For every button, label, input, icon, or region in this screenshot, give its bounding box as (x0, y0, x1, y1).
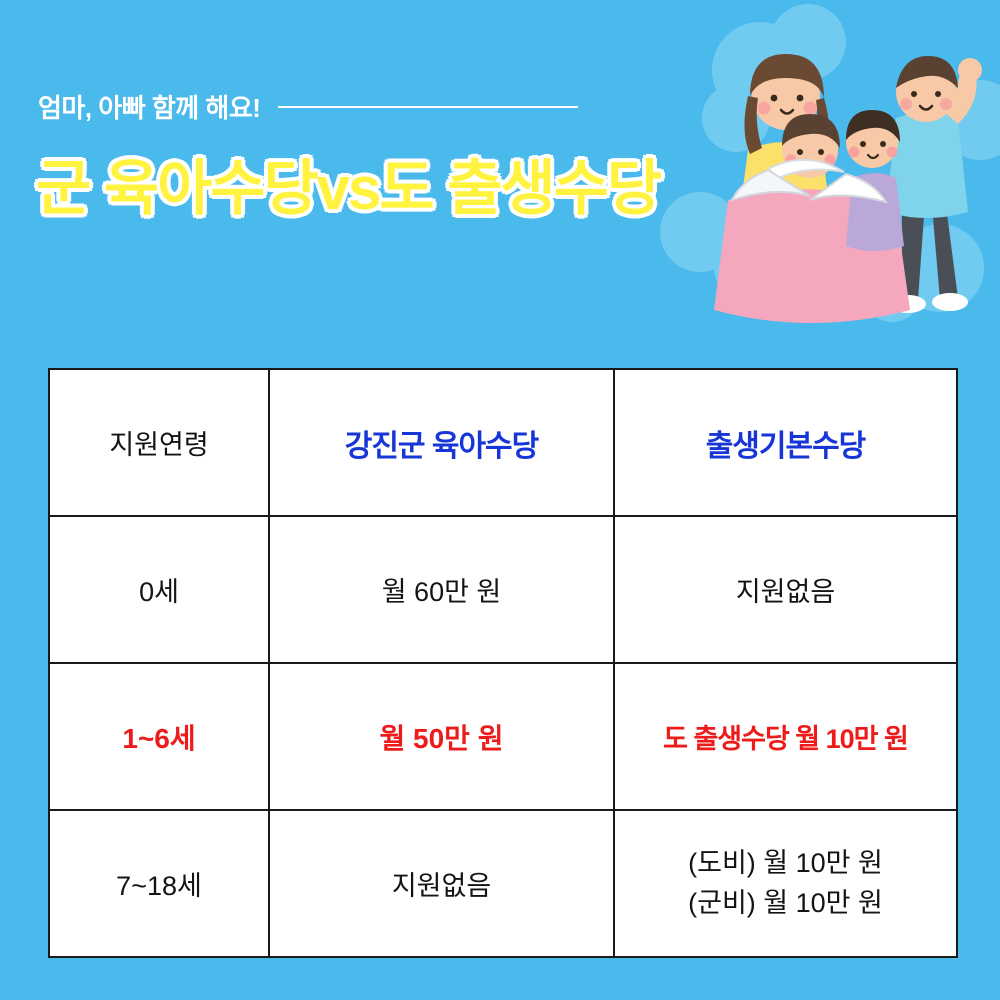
gangjin-value-row0: 월 60만 원 (270, 570, 613, 609)
header-birth-label: 출생기본수당 (615, 421, 956, 465)
page-title: 군 육아수당vs도 출생수당 (36, 140, 660, 227)
gangjin-value-row2: 지원없음 (270, 864, 613, 903)
header-banner: 엄마, 아빠 함께 해요! 군 육아수당vs도 출생수당 (0, 0, 1000, 340)
header-cell-birth: 출생기본수당 (614, 369, 957, 516)
header-cell-gangjin: 강진군 육아수당 (269, 369, 614, 516)
header-cell-age: 지원연령 (49, 369, 269, 516)
birth-value-row2-line1: (도비) 월 10만 원 (615, 844, 956, 883)
cell-age-row0: 0세 (49, 516, 269, 663)
cell-gangjin-row0: 월 60만 원 (269, 516, 614, 663)
header-gangjin-label: 강진군 육아수당 (270, 421, 613, 465)
family-reading-illustration (640, 0, 1000, 340)
cell-birth-row1: 도 출생수당 월 10만 원 (614, 663, 957, 810)
table-header-row: 지원연령 강진군 육아수당 출생기본수당 (49, 369, 957, 516)
table-row: 7~18세 지원없음 (도비) 월 10만 원 (군비) 월 10만 원 (49, 810, 957, 957)
benefit-table: 지원연령 강진군 육아수당 출생기본수당 0세 월 60만 원 지원없음 (48, 368, 958, 958)
cell-age-row2: 7~18세 (49, 810, 269, 957)
gangjin-value-row1: 월 50만 원 (270, 717, 613, 757)
cell-age-row1: 1~6세 (49, 663, 269, 810)
table-row: 0세 월 60만 원 지원없음 (49, 516, 957, 663)
birth-value-row1: 도 출생수당 월 10만 원 (615, 717, 956, 756)
benefit-table-container: 지원연령 강진군 육아수당 출생기본수당 0세 월 60만 원 지원없음 (48, 368, 952, 958)
kicker-text: 엄마, 아빠 함께 해요! (38, 88, 260, 125)
cell-gangjin-row1: 월 50만 원 (269, 663, 614, 810)
age-value-row2: 7~18세 (50, 864, 268, 903)
age-value-row0: 0세 (50, 570, 268, 609)
table-row: 1~6세 월 50만 원 도 출생수당 월 10만 원 (49, 663, 957, 810)
age-value-row1: 1~6세 (50, 717, 268, 757)
cell-birth-row2: (도비) 월 10만 원 (군비) 월 10만 원 (614, 810, 957, 957)
birth-value-row2-line2: (군비) 월 10만 원 (615, 884, 956, 923)
kicker-row: 엄마, 아빠 함께 해요! (38, 88, 738, 125)
kicker-divider (278, 106, 578, 108)
cell-gangjin-row2: 지원없음 (269, 810, 614, 957)
cell-birth-row0: 지원없음 (614, 516, 957, 663)
birth-value-row0: 지원없음 (615, 570, 956, 609)
header-age-label: 지원연령 (50, 423, 268, 462)
